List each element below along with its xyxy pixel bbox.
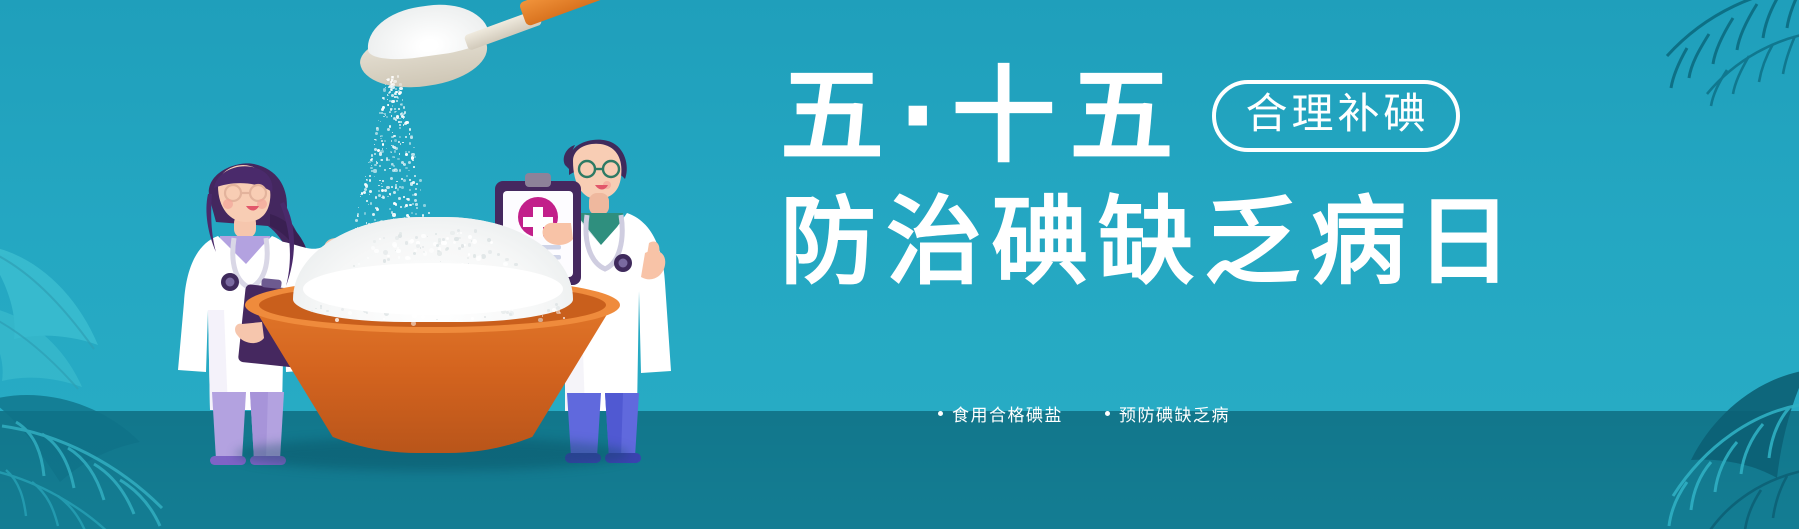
bullet-dot-icon (1105, 411, 1110, 416)
tagline-item-1: 食用合格碘盐 (938, 401, 1063, 426)
headline-block: 五·十五 合理补碘 防治碘缺乏病日 (780, 62, 1700, 293)
tagline-label-2: 预防碘缺乏病 (1119, 401, 1230, 426)
bullet-dot-icon (938, 411, 943, 416)
date-title: 五·十五 (780, 64, 1188, 168)
headline-line-1: 五·十五 合理补碘 (780, 62, 1700, 170)
tagline-label-1: 食用合格碘盐 (952, 401, 1063, 426)
tagline-item-2: 预防碘缺乏病 (1105, 401, 1230, 426)
salt-bowl-illustration (245, 255, 620, 470)
slogan-badge: 合理补碘 (1212, 80, 1460, 152)
tagline-group: 食用合格碘盐 预防碘缺乏病 (938, 401, 1230, 426)
subtitle-title: 防治碘缺乏病日 (780, 192, 1700, 293)
iodine-deficiency-day-banner: 五·十五 合理补碘 防治碘缺乏病日 食用合格碘盐 预防碘缺乏病 (0, 0, 1799, 529)
